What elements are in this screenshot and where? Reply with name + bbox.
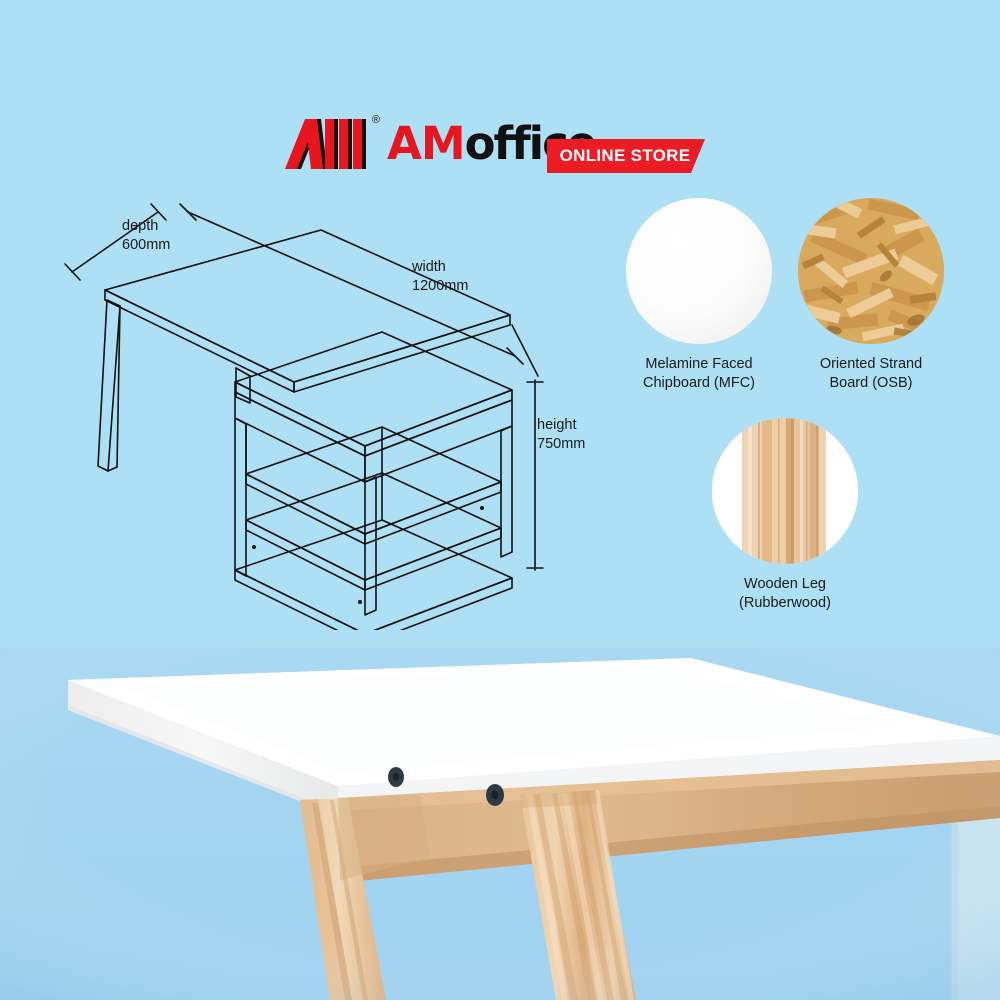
material-swatch-mfc: Melamine Faced Chipboard (MFC) <box>622 198 776 393</box>
desk-corner-photograph <box>0 648 1000 1000</box>
material-caption-leg: Wooden Leg (Rubberwood) <box>708 575 862 613</box>
material-swatch-leg: Wooden Leg (Rubberwood) <box>708 418 862 613</box>
dimension-label-depth: depth 600mm <box>122 217 170 254</box>
material-swatch-osb: Oriented Strand Board (OSB) <box>794 198 948 393</box>
desk-dimension-diagram: depth 600mm width 1200mm height 750mm <box>60 190 640 630</box>
brand-header: ® AM office ONLINE STORE <box>0 55 1000 130</box>
material-caption-osb: Oriented Strand Board (OSB) <box>794 355 948 393</box>
wooden-leg-swatch <box>712 418 858 564</box>
desk-isometric-drawing <box>60 190 640 630</box>
material-caption-mfc: Melamine Faced Chipboard (MFC) <box>622 355 776 393</box>
online-store-banner-label: ONLINE STORE <box>560 146 691 166</box>
registered-trademark-symbol: ® <box>372 115 380 126</box>
melamine-faced-chipboard-swatch <box>626 198 772 344</box>
wordmark-am: AM <box>387 121 465 166</box>
dimension-label-width: width 1200mm <box>412 258 468 295</box>
am-logo-mark-icon: ® <box>281 117 377 169</box>
dimension-label-height: height 750mm <box>537 416 585 453</box>
oriented-strand-board-swatch <box>798 198 944 344</box>
product-image-canvas: ® AM office ONLINE STORE <box>0 0 1000 1000</box>
online-store-banner: ONLINE STORE <box>547 139 705 173</box>
